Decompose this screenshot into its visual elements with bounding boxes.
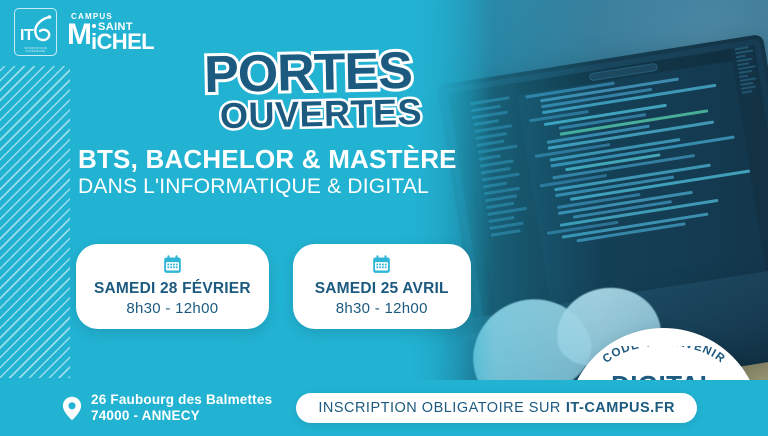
bullet-dot-icon	[92, 24, 96, 28]
calendar-icon	[371, 254, 392, 275]
it-logo-text: IT	[20, 28, 33, 44]
address-line-2: 74000 - ANNECY	[91, 408, 272, 424]
registration-cta[interactable]: INSCRIPTION OBLIGATOIRE SUR IT-CAMPUS.FR	[296, 393, 697, 423]
subtitle-line-2: DANS L'INFORMATIQUE & DIGITAL	[78, 175, 457, 199]
subtitle-line-1: BTS, BACHELOR & MASTÈRE	[78, 146, 457, 173]
diagonal-stripes-decoration	[0, 66, 70, 378]
svg-text:CODE TON AVENIR: CODE TON AVENIR	[600, 346, 728, 366]
footer-bar: 26 Faubourg des Balmettes 74000 - ANNECY…	[0, 380, 768, 436]
map-pin-icon	[62, 396, 82, 421]
date-cards: SAMEDI 28 FÉVRIER 8h30 - 12h00 SAMEDI 25…	[76, 244, 471, 329]
date-card-2-title: SAMEDI 25 AVRIL	[311, 280, 453, 298]
cta-url-text[interactable]: IT-CAMPUS.FR	[566, 400, 675, 416]
address-line-1: 26 Faubourg des Balmettes	[91, 392, 272, 408]
headline-line-2: OUVERTES	[154, 92, 489, 135]
campus-saint-michel-logo: CAMPUS M SAINT iCHEL	[67, 13, 154, 52]
open-house-poster: IT INFORMATIQUE SUPÉRIEURE CAMPUS M SAIN…	[0, 0, 768, 436]
date-card-1-title: SAMEDI 28 FÉVRIER	[94, 280, 251, 298]
date-card-2[interactable]: SAMEDI 25 AVRIL 8h30 - 12h00	[293, 244, 471, 329]
it-logo-tagline: INFORMATIQUE SUPÉRIEURE	[15, 47, 56, 53]
date-card-1[interactable]: SAMEDI 28 FÉVRIER 8h30 - 12h00	[76, 244, 269, 329]
cta-prefix-text: INSCRIPTION OBLIGATOIRE SUR	[318, 400, 561, 416]
headline-block: PORTES OUVERTES	[128, 50, 488, 132]
address-block: 26 Faubourg des Balmettes 74000 - ANNECY	[62, 392, 272, 425]
date-card-2-time: 8h30 - 12h00	[311, 300, 453, 317]
subtitle-block: BTS, BACHELOR & MASTÈRE DANS L'INFORMATI…	[78, 146, 457, 199]
calendar-icon	[162, 254, 183, 275]
logo-group: IT INFORMATIQUE SUPÉRIEURE CAMPUS M SAIN…	[14, 8, 154, 56]
campus-letter-m: M	[67, 21, 91, 49]
campus-ichel-text: iCHEL	[91, 32, 154, 52]
date-card-1-time: 8h30 - 12h00	[94, 300, 251, 317]
it-logo: IT INFORMATIQUE SUPÉRIEURE	[14, 8, 57, 56]
